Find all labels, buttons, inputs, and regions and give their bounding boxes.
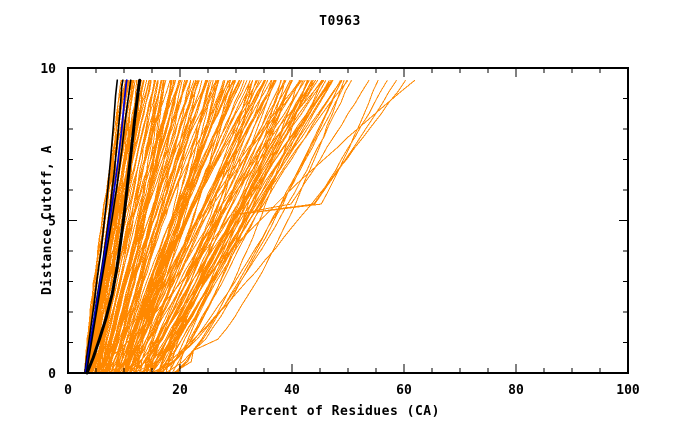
y-tick-label: 10 (40, 62, 56, 77)
x-tick-label: 80 (508, 383, 524, 398)
chart-container: T0963 Distance Cutoff, A Percent of Resi… (0, 0, 680, 440)
x-tick-label: 60 (396, 383, 412, 398)
plot-svg: 0204060801000510 (0, 0, 680, 440)
y-tick-label: 5 (48, 215, 56, 230)
x-tick-label: 0 (64, 383, 72, 398)
x-tick-label: 100 (616, 383, 640, 398)
x-tick-label: 20 (172, 383, 188, 398)
data-curves-layer (84, 80, 415, 373)
y-tick-label: 0 (48, 367, 56, 382)
x-tick-label: 40 (284, 383, 300, 398)
